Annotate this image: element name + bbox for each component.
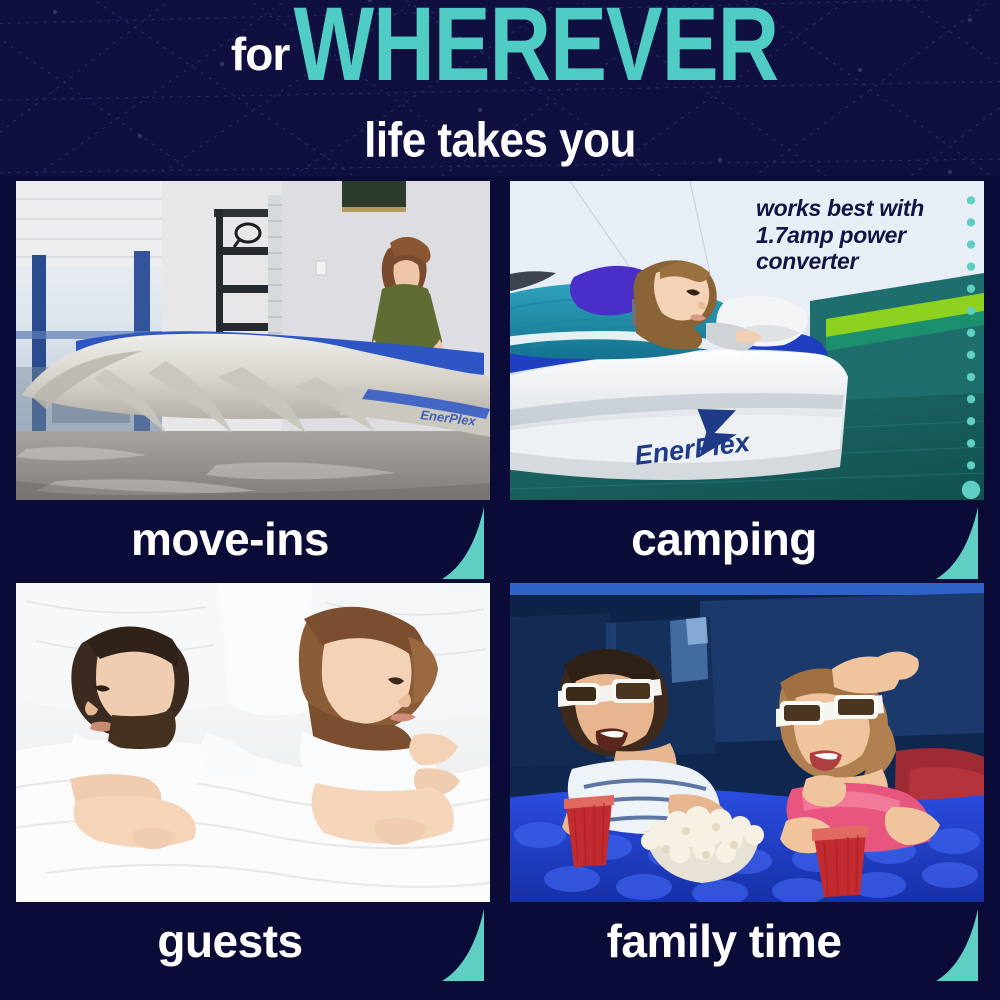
teal-fin-accent: [936, 507, 978, 579]
caption-guests: guests: [16, 902, 490, 981]
photo-guests: [16, 583, 490, 902]
headline-wherever: WHEREVER: [294, 0, 778, 98]
poster: forWHEREVER life takes you: [0, 0, 1000, 1000]
panel-family-time[interactable]: family time: [510, 583, 984, 981]
panel-camping[interactable]: EnerPlex works best with 1.7amp power: [510, 181, 984, 579]
panel-grid: EnerPlex move-ins: [16, 181, 984, 987]
caption-label-guests: guests: [16, 918, 444, 964]
header-text-block: forWHEREVER life takes you: [0, 0, 1000, 176]
headline-line-1: forWHEREVER: [0, 16, 1000, 98]
panel-move-ins[interactable]: EnerPlex move-ins: [16, 181, 490, 579]
teal-fin-accent: [936, 909, 978, 981]
caption-label-camping: camping: [510, 516, 938, 562]
photo-family-time: [510, 583, 984, 902]
photo-camping: EnerPlex works best with 1.7amp power: [510, 181, 984, 500]
caption-label-move-ins: move-ins: [16, 516, 444, 562]
caption-move-ins: move-ins: [16, 500, 490, 579]
teal-fin-accent: [442, 507, 484, 579]
headline-for: for: [231, 31, 289, 77]
callout-power-converter: works best with 1.7amp power converter: [756, 195, 978, 275]
header-banner: forWHEREVER life takes you: [0, 0, 1000, 176]
panel-guests[interactable]: guests: [16, 583, 490, 981]
caption-label-family-time: family time: [510, 918, 938, 964]
headline-line-2: life takes you: [0, 116, 1000, 165]
teal-fin-accent: [442, 909, 484, 981]
caption-family-time: family time: [510, 902, 984, 981]
photo-move-ins: EnerPlex: [16, 181, 490, 500]
caption-camping: camping: [510, 500, 984, 579]
